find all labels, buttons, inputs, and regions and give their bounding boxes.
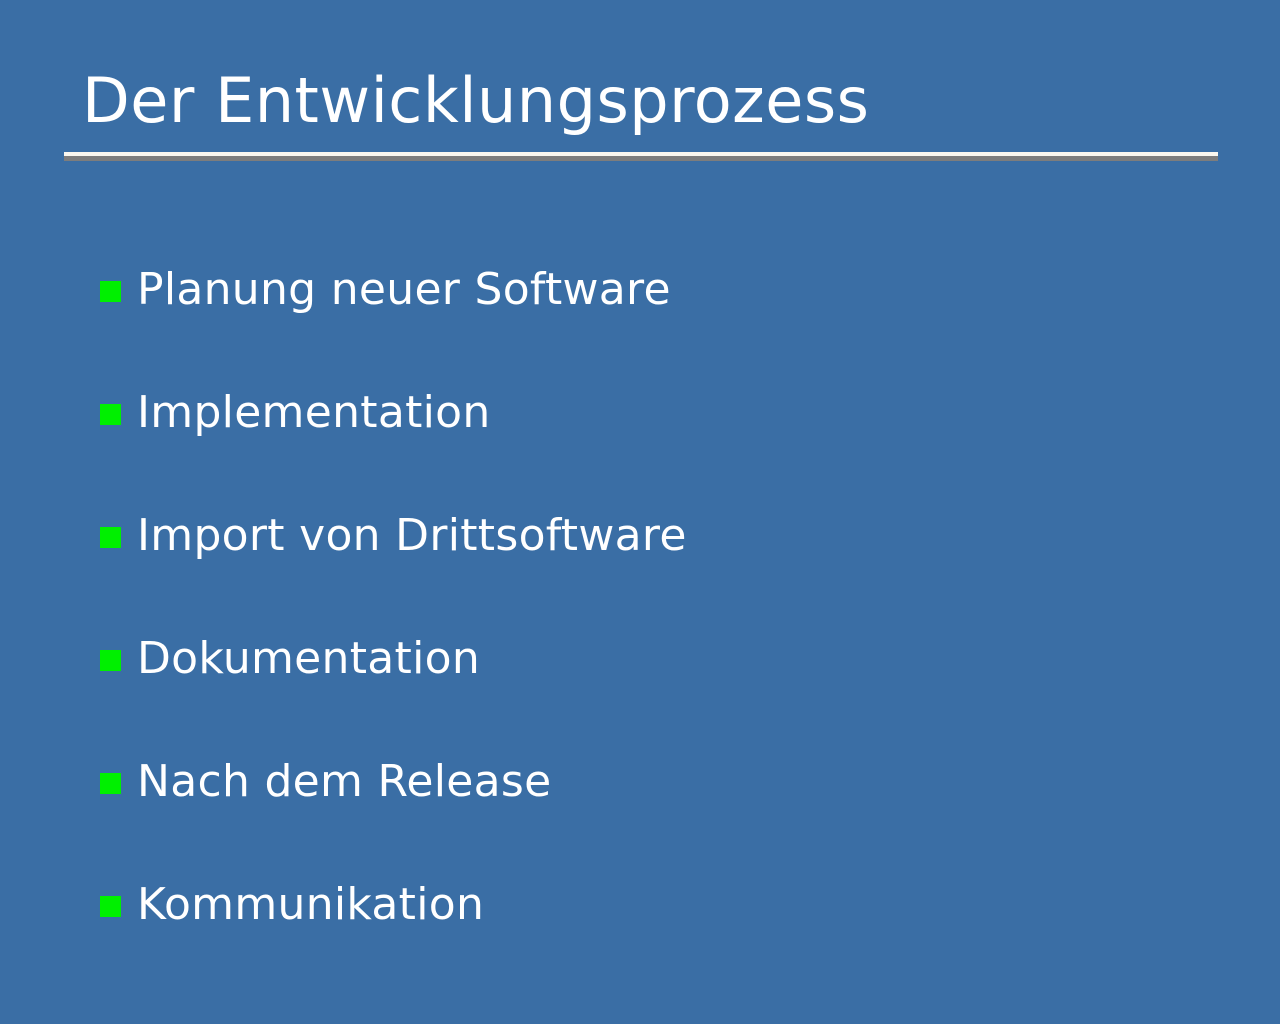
square-bullet-icon xyxy=(100,773,121,794)
list-item-label: Import von Drittsoftware xyxy=(137,510,1220,562)
list-item-label: Dokumentation xyxy=(137,633,1220,685)
square-bullet-icon xyxy=(100,404,121,425)
list-item: Import von Drittsoftware xyxy=(100,474,1220,597)
list-item-label: Implementation xyxy=(137,387,1220,439)
list-item: Dokumentation xyxy=(100,597,1220,720)
square-bullet-icon xyxy=(100,650,121,671)
title-divider-dark-band xyxy=(64,156,1218,161)
page-title: Der Entwicklungsprozess xyxy=(64,64,1218,138)
square-bullet-icon xyxy=(100,281,121,302)
list-item-label: Nach dem Release xyxy=(137,756,1220,808)
list-item-label: Kommunikation xyxy=(137,879,1220,931)
list-item: Planung neuer Software xyxy=(100,228,1220,351)
square-bullet-icon xyxy=(100,896,121,917)
title-divider xyxy=(64,152,1218,161)
bullet-list: Planung neuer Software Implementation Im… xyxy=(100,228,1220,966)
presentation-slide: Der Entwicklungsprozess Planung neuer So… xyxy=(0,0,1280,1024)
title-block: Der Entwicklungsprozess xyxy=(64,64,1218,138)
square-bullet-icon xyxy=(100,527,121,548)
list-item: Implementation xyxy=(100,351,1220,474)
list-item: Kommunikation xyxy=(100,843,1220,966)
list-item-label: Planung neuer Software xyxy=(137,264,1220,316)
list-item: Nach dem Release xyxy=(100,720,1220,843)
